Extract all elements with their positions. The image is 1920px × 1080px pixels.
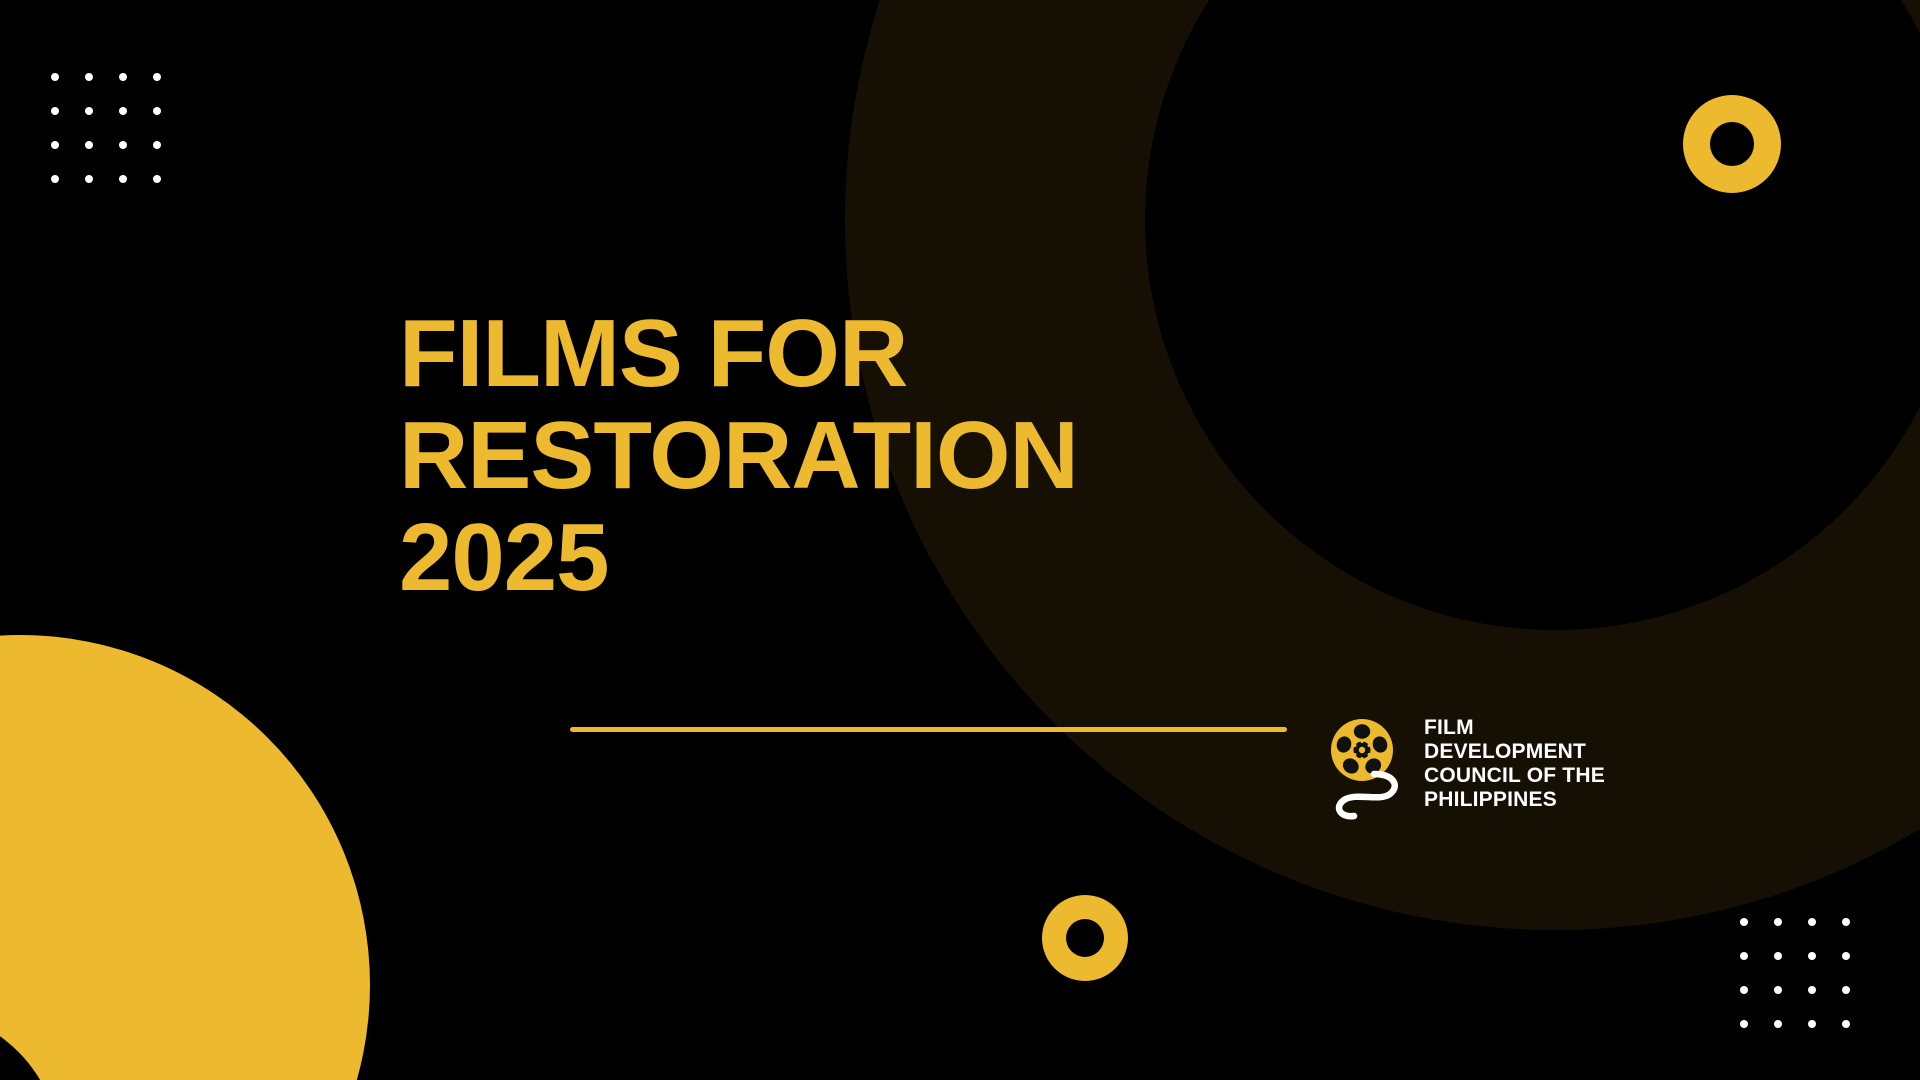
presentation-slide: FILMS FOR RESTORATION 2025 [0,0,1920,1080]
slide-title: FILMS FOR RESTORATION 2025 [399,303,1299,608]
fdcp-logo-line-2: DEVELOPMENT [1424,740,1605,764]
title-divider-rule [570,727,1287,732]
fdcp-logo-line-3: COUNCIL OF THE [1424,764,1605,788]
fdcp-logo-line-1: FILM [1424,716,1605,740]
fdcp-logo-line-4: PHILIPPINES [1424,788,1605,812]
film-reel-icon [1328,712,1410,824]
fdcp-logo-wordmark: FILM DEVELOPMENT COUNCIL OF THE PHILIPPI… [1424,712,1605,812]
fdcp-logo-lockup: FILM DEVELOPMENT COUNCIL OF THE PHILIPPI… [1328,712,1605,824]
slide-content: FILMS FOR RESTORATION 2025 [0,0,1920,1080]
